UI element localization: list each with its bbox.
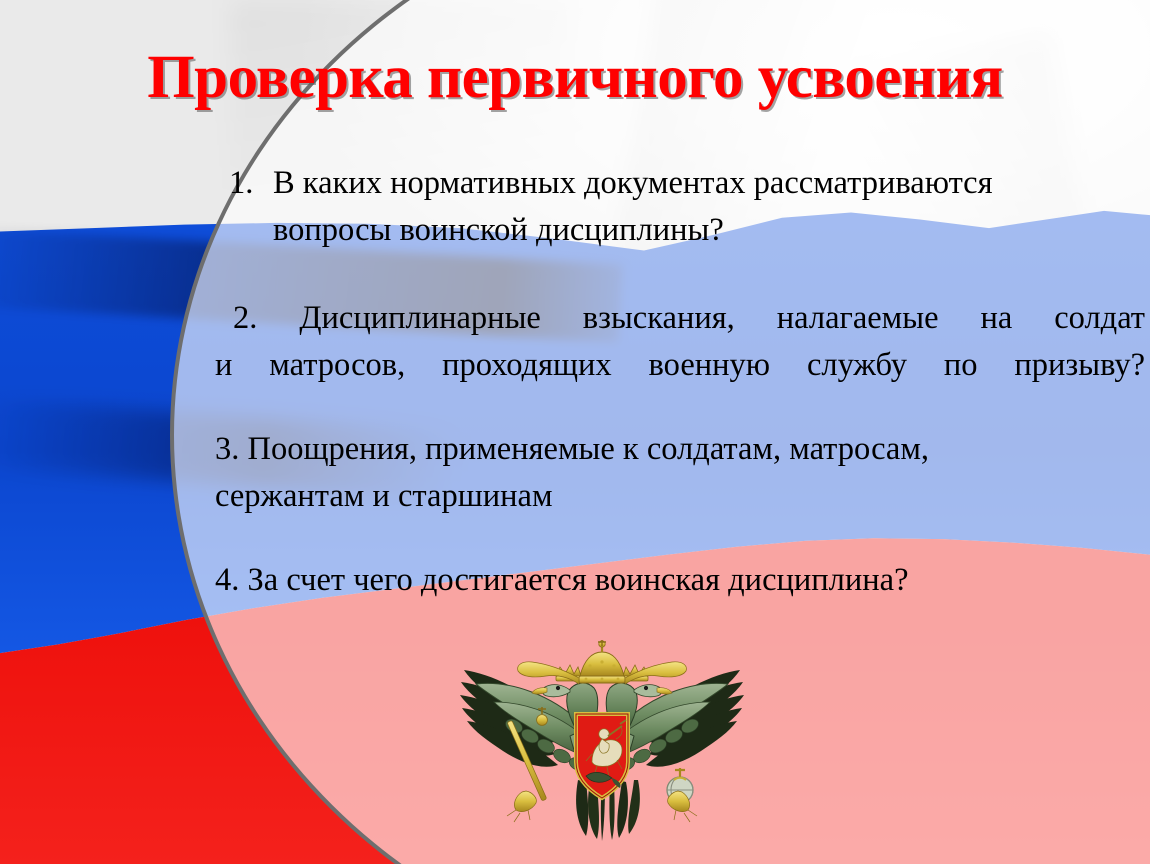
eagle-great-crown [579,640,625,683]
question-1-line-2: вопросы воинской дисциплины? [273,207,1145,254]
question-number-3: 3. [215,431,239,467]
question-3-line-2: сержантам и старшинам [215,473,1145,520]
question-4-text-line-1: За счет чего достигается воинская дисцип… [248,562,909,598]
question-1-line-1: В каких нормативных документах рассматри… [273,160,1145,207]
question-3-line-1: 3. Поощрения, применяемые к солдатам, ма… [215,426,1145,473]
question-number-4: 4. [215,562,239,598]
question-text-1: В каких нормативных документах рассматри… [273,160,1145,255]
question-3-text-line-1: Поощрения, применяемые к солдатам, матро… [248,431,930,467]
saint-george-shield [576,714,628,798]
question-number-1: 1. [215,160,273,255]
question-2-text-line-1: Дисциплинарные взыскания, налагаемые на … [299,300,1145,336]
question-2-line-2: и матросов, проходящих военную службу по… [215,342,1145,389]
page-title: Проверка первичного усвоения [0,47,1150,108]
question-list: 1. В каких нормативных документах рассма… [215,160,1145,604]
question-item-2: 2. Дисциплинарные взыскания, налагаемые … [215,295,1145,390]
question-item-1: 1. В каких нормативных документах рассма… [215,160,1145,255]
question-number-2: 2. [233,300,257,336]
slide-canvas: Проверка первичного усвоения 1. В каких … [0,0,1150,864]
question-item-4: 4. За счет чего достигается воинская дис… [215,557,1145,604]
question-4-line-1: 4. За счет чего достигается воинская дис… [215,562,909,598]
question-item-3: 3. Поощрения, применяемые к солдатам, ма… [215,426,1145,521]
russian-coat-of-arms-icon [452,640,752,845]
question-2-line-1: 2. Дисциплинарные взыскания, налагаемые … [215,295,1145,342]
